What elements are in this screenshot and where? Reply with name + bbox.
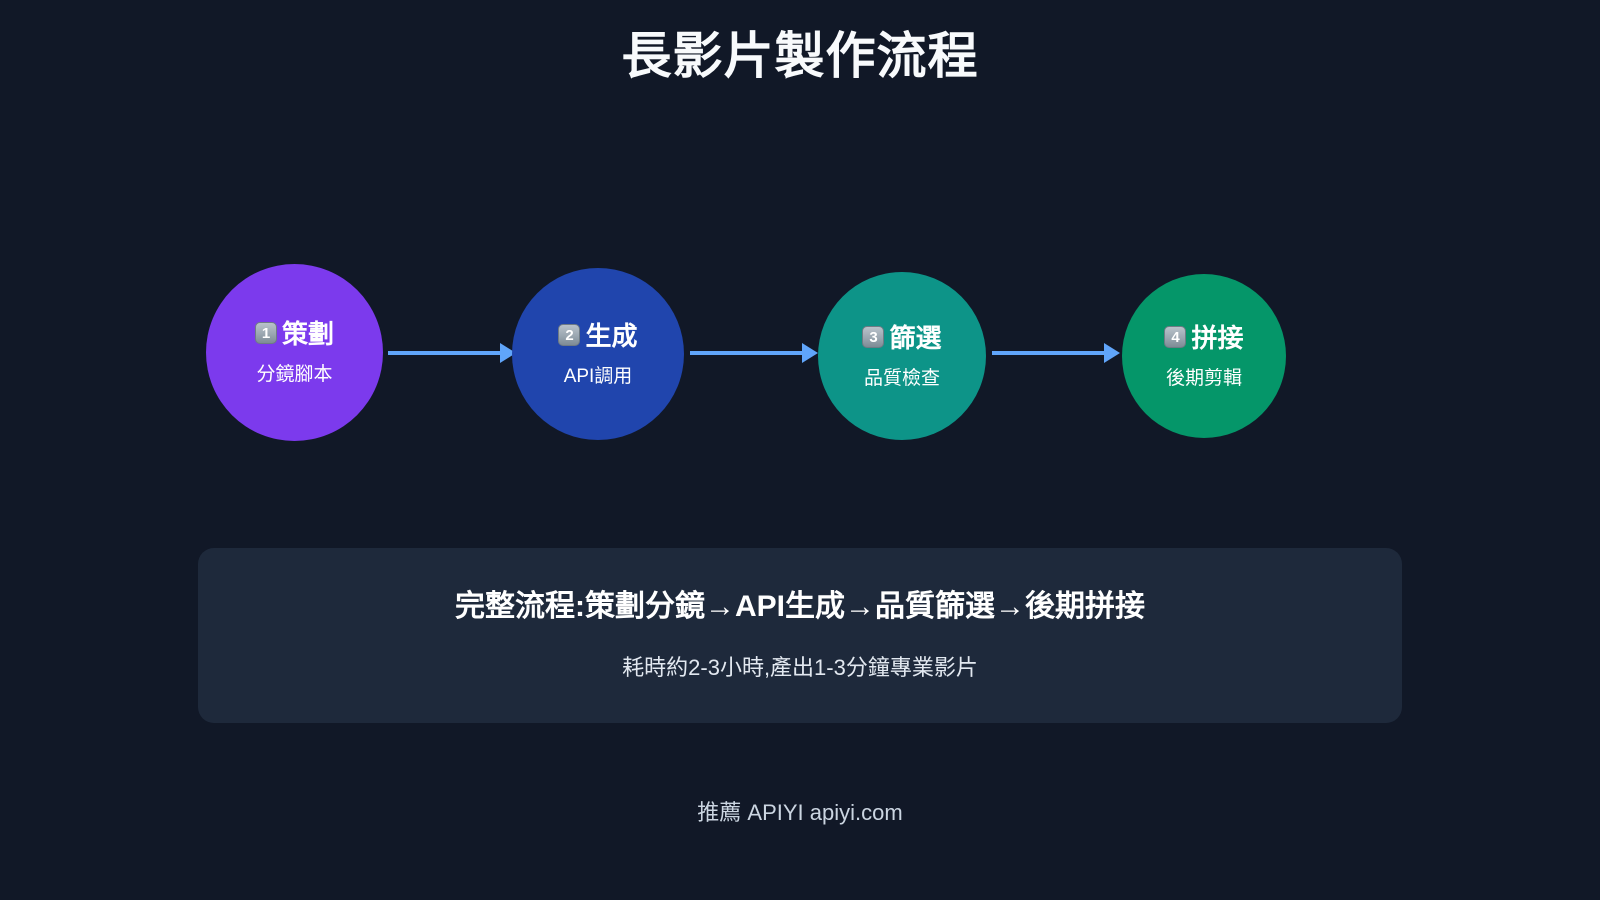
summary-flow-text: 完整流程:策劃分鏡→API生成→品質篩選→後期拼接 [455,589,1145,625]
flow-node-3-subtitle: 品質檢查 [864,369,940,388]
keycap-number-3-icon: 3 [862,326,884,348]
summary-duration-text: 耗時約2-3小時,產出1-3分鐘專業影片 [622,655,978,681]
keycap-number-4-icon: 4 [1164,326,1186,348]
keycap-number-1-icon: 1 [255,322,277,344]
flow-node-4[interactable]: 4 拼接 後期剪輯 [1122,274,1286,438]
flow-node-2-title: 2 生成 [558,323,637,349]
flow-node-2-subtitle: API調用 [564,367,633,386]
page-title: 長影片製作流程 [0,26,1600,86]
flow-node-4-title: 4 拼接 [1164,325,1243,351]
flow-node-4-subtitle: 後期剪輯 [1166,369,1242,388]
flow-node-3-label: 篩選 [889,325,941,351]
keycap-number-2-icon: 2 [558,324,580,346]
arrow-head-icon [802,343,818,363]
flow-arrow-3-to-4 [992,343,1120,363]
arrow-head-icon [1104,343,1120,363]
flow-arrow-2-to-3 [690,343,818,363]
flow-node-2[interactable]: 2 生成 API調用 [512,268,684,440]
process-flow: 1 策劃 分鏡腳本 2 生成 API調用 3 篩選 品質檢查 4 [0,264,1600,444]
arrow-shaft [992,351,1104,355]
flow-node-1-label: 策劃 [282,321,334,347]
flow-node-4-label: 拼接 [1191,325,1243,351]
arrow-shaft [690,351,802,355]
footer-credit: 推薦 APIYI apiyi.com [0,800,1600,826]
flow-node-2-label: 生成 [585,323,637,349]
summary-panel: 完整流程:策劃分鏡→API生成→品質篩選→後期拼接 耗時約2-3小時,產出1-3… [198,548,1402,723]
flow-node-1[interactable]: 1 策劃 分鏡腳本 [206,264,383,441]
flow-node-3-title: 3 篩選 [862,325,941,351]
flow-node-1-subtitle: 分鏡腳本 [256,365,332,384]
flow-node-3[interactable]: 3 篩選 品質檢查 [818,272,986,440]
flow-node-1-title: 1 策劃 [255,321,334,347]
flow-arrow-1-to-2 [388,343,516,363]
arrow-shaft [388,351,500,355]
